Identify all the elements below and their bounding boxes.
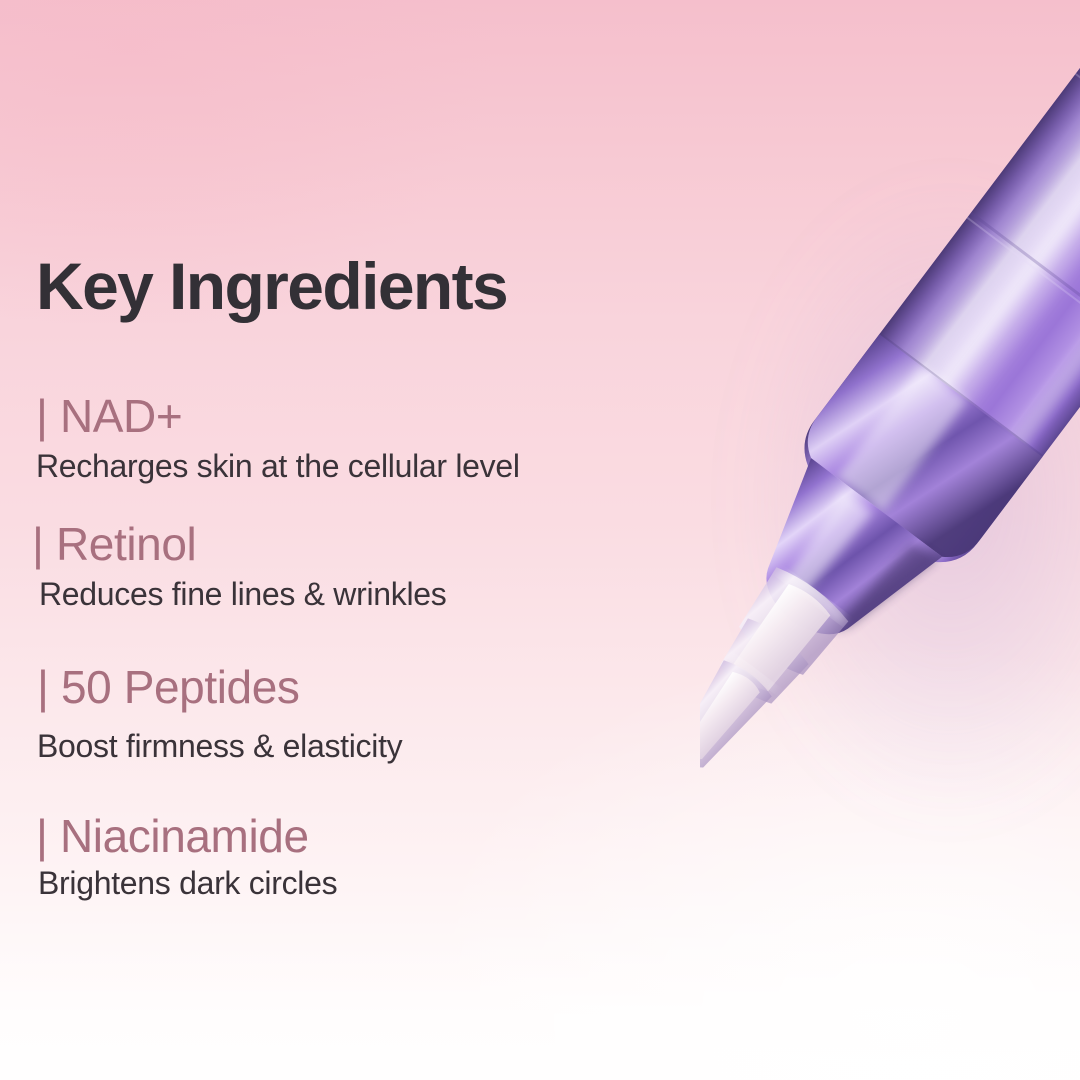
ingredient-name: | 50 Peptides (37, 663, 402, 711)
ingredient-description: Recharges skin at the cellular level (36, 448, 520, 486)
ingredient-item-niacinamide: | Niacinamide Brightens dark circles (36, 812, 337, 903)
ingredient-name-text: 50 Peptides (61, 661, 300, 713)
ingredient-description: Reduces fine lines & wrinkles (39, 576, 447, 614)
ingredient-name-text: NAD+ (60, 390, 182, 442)
ingredient-marker: | (32, 518, 44, 570)
key-ingredients-graphic: numbuzin NAD+ Key Ingredients | NAD+ Rec… (0, 0, 1080, 1080)
page-title: Key Ingredients (36, 252, 507, 321)
ingredient-description: Brightens dark circles (38, 865, 337, 903)
ingredient-name-text: Retinol (56, 518, 196, 570)
product-image: numbuzin NAD+ (700, 0, 1080, 950)
ingredient-marker: | (36, 390, 48, 442)
content-column: Key Ingredients | NAD+ Recharges skin at… (0, 0, 720, 1080)
ingredient-name: | NAD+ (36, 392, 520, 440)
ingredient-item-peptides: | 50 Peptides Boost firmness & elasticit… (37, 663, 402, 766)
ingredient-name: | Niacinamide (36, 812, 337, 860)
ingredient-name: | Retinol (32, 520, 447, 568)
ingredient-name-text: Niacinamide (60, 810, 309, 862)
ingredient-description: Boost firmness & elasticity (37, 728, 402, 766)
ingredient-item-retinol: | Retinol Reduces fine lines & wrinkles (32, 520, 447, 614)
ingredient-item-nad: | NAD+ Recharges skin at the cellular le… (36, 392, 520, 486)
ingredient-marker: | (37, 661, 49, 713)
ingredient-marker: | (36, 810, 48, 862)
